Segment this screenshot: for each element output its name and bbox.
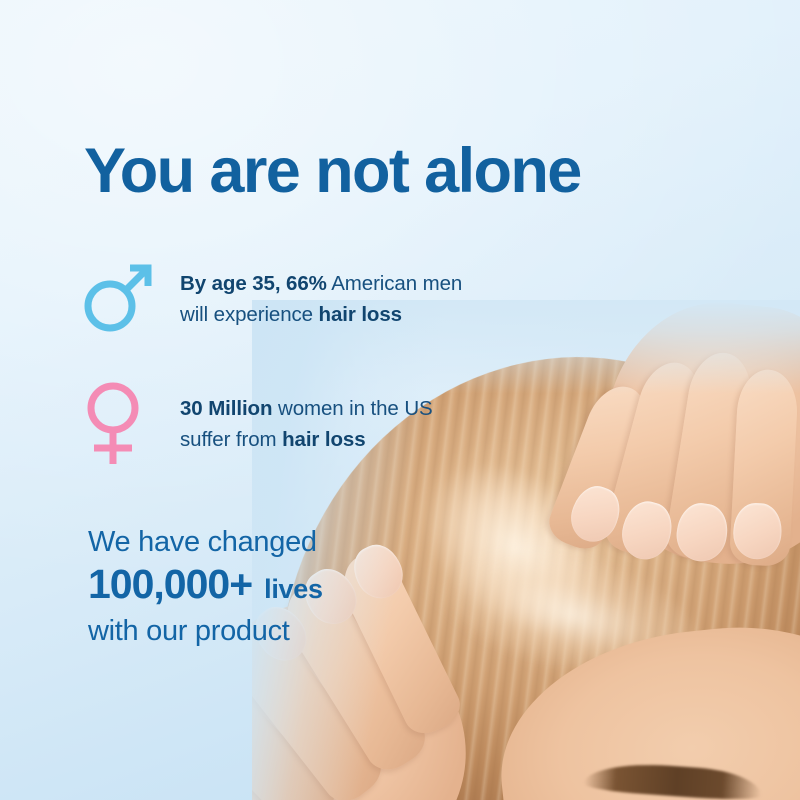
promo-block: We have changed 100,000+lives with our p…: [88, 524, 323, 649]
stat-female: 30 Million women in the US suffer from h…: [80, 378, 433, 471]
promo-line-1: We have changed: [88, 524, 323, 560]
stat-female-line-2-plain: suffer from: [180, 428, 282, 451]
hero-photo: [252, 300, 800, 800]
stat-female-line-2: suffer from hair loss: [180, 425, 433, 455]
stat-male-line-2: will experience hair loss: [180, 300, 462, 330]
promo-count-unit: lives: [264, 574, 323, 604]
stat-male-line-1: By age 35, 66% American men: [180, 269, 462, 299]
page-title: You are not alone: [84, 138, 581, 204]
male-gender-symbol-icon: [80, 258, 158, 341]
right-hand: [516, 300, 800, 646]
hero-photo-illustration: [252, 300, 800, 800]
stat-male-line-1-bold: By age 35, 66%: [180, 272, 327, 295]
promo-line-3: with our product: [88, 613, 323, 649]
promo-line-2: 100,000+lives: [88, 562, 323, 608]
stat-female-line-1-plain: women in the US: [272, 397, 432, 420]
stat-female-line-2-bold: hair loss: [282, 428, 365, 451]
stat-male-line-2-plain: will experience: [180, 303, 319, 326]
stat-female-line-1-bold: 30 Million: [180, 397, 272, 420]
stat-male-line-2-bold: hair loss: [319, 303, 402, 326]
stat-female-line-1: 30 Million women in the US: [180, 394, 433, 424]
promo-poster: You are not alone By age 35, 66% America…: [0, 0, 800, 800]
female-gender-symbol-icon: [80, 378, 158, 471]
stat-male: By age 35, 66% American men will experie…: [80, 258, 462, 341]
stat-male-line-1-plain: American men: [327, 272, 462, 295]
promo-count: 100,000+: [88, 561, 252, 607]
stat-male-text: By age 35, 66% American men will experie…: [180, 269, 462, 330]
stat-female-text: 30 Million women in the US suffer from h…: [180, 394, 433, 455]
